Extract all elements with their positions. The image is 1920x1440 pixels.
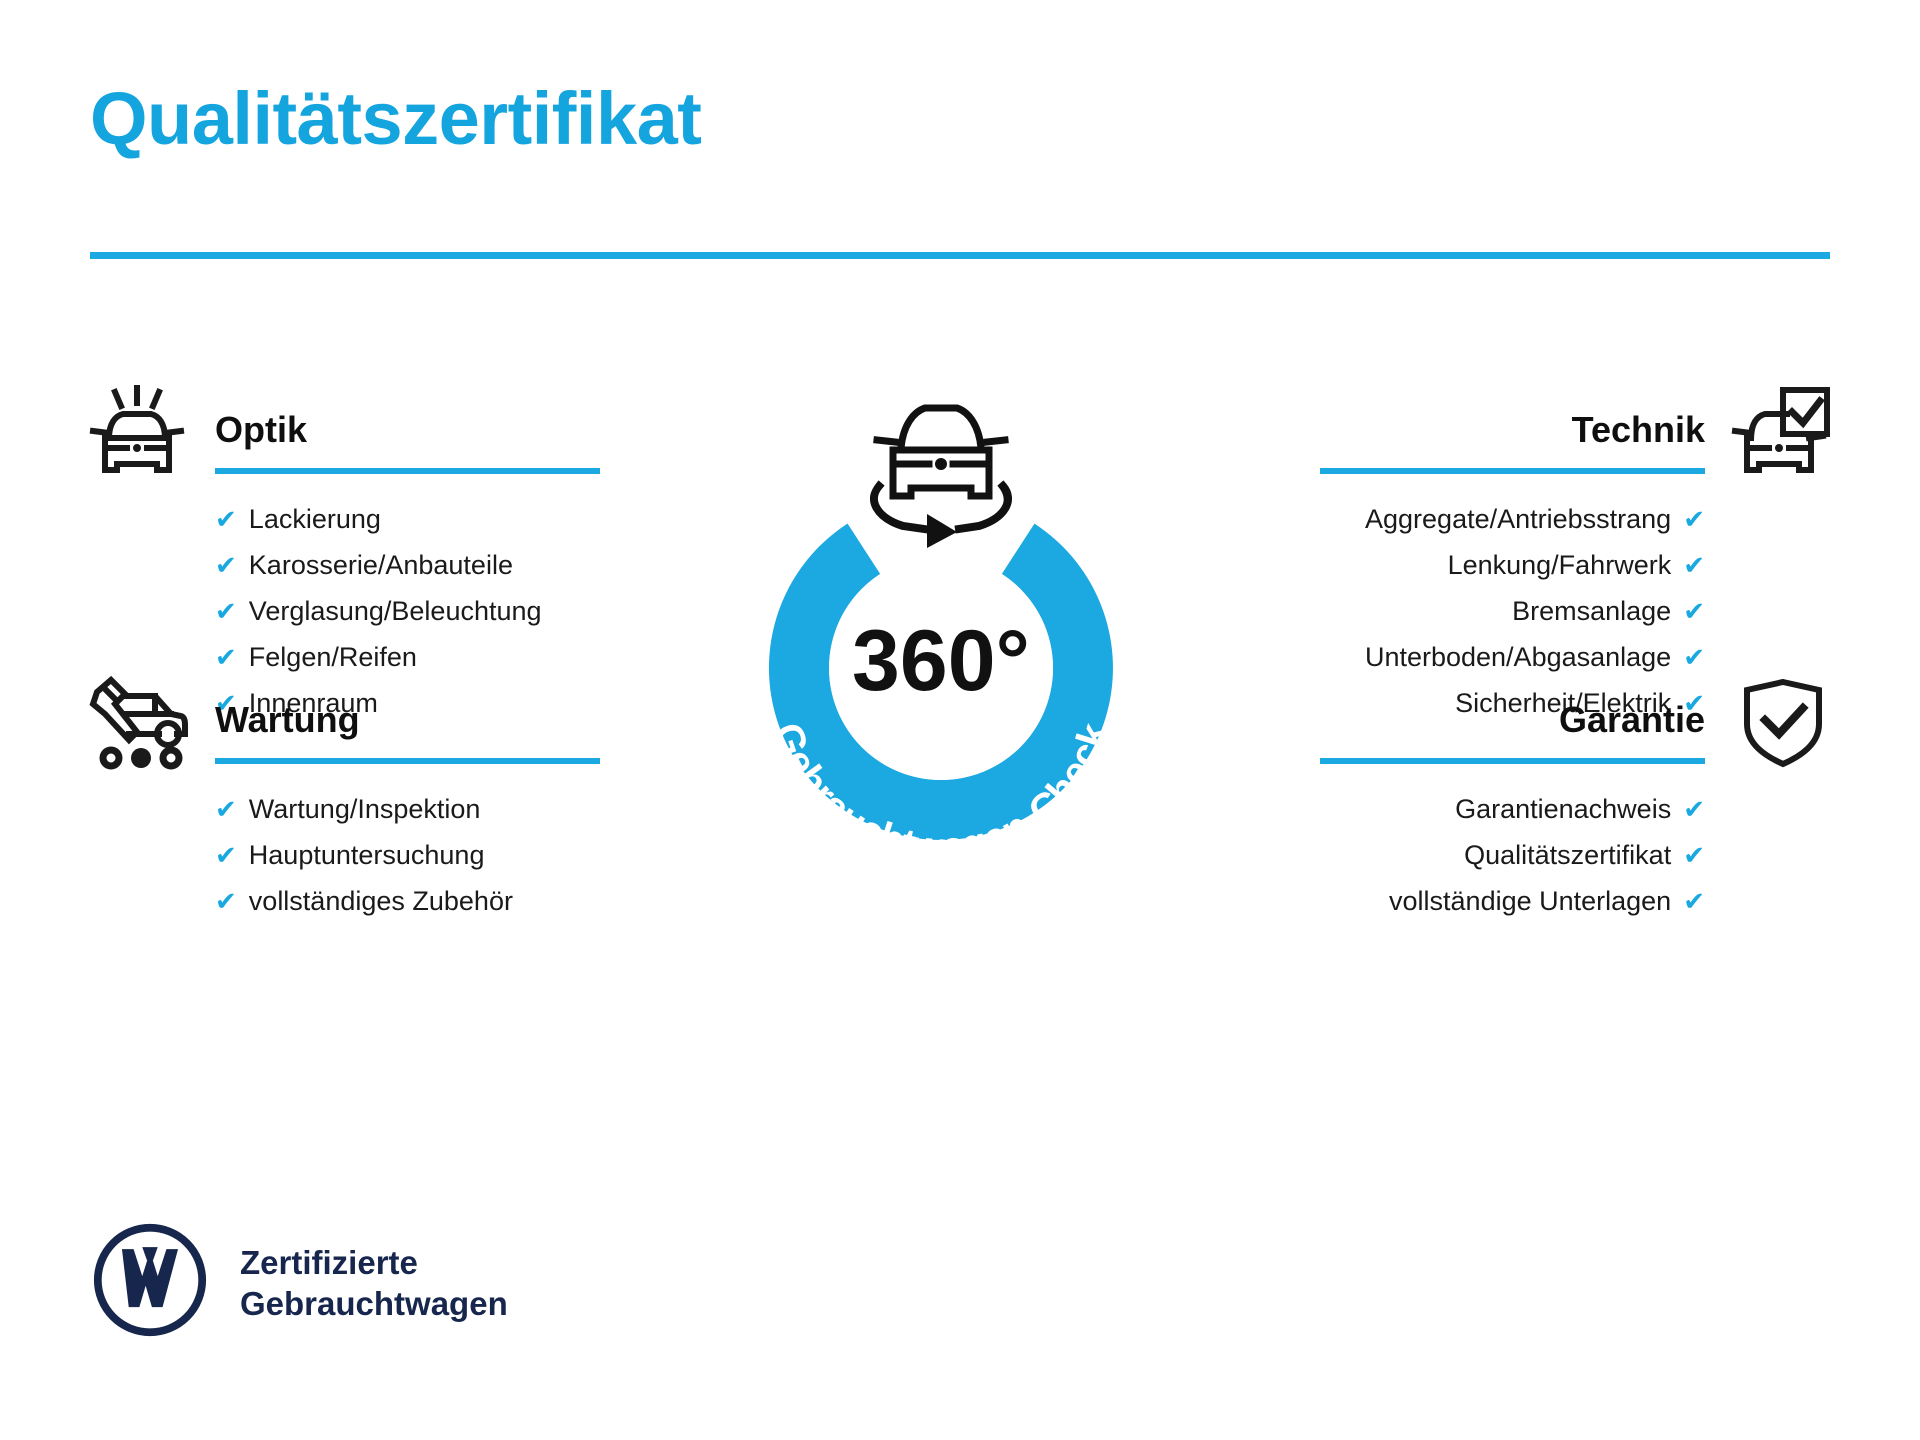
section-wartung: Wartung ✔ Wartung/Inspektion ✔ Hauptunte… — [85, 670, 725, 924]
car-service-wrench-icon — [85, 672, 195, 772]
list-item-label: Bremsanlage — [1512, 588, 1671, 634]
list-item-label: Lenkung/Fahrwerk — [1448, 542, 1672, 588]
list-item: Bremsanlage ✔ — [1195, 588, 1705, 634]
list-item-label: Hauptuntersuchung — [249, 832, 485, 878]
section-wartung-underline — [215, 758, 600, 764]
footer-brand: Zertifizierte Gebrauchtwagen — [92, 1222, 508, 1343]
list-item: vollständige Unterlagen ✔ — [1195, 878, 1705, 924]
check-icon: ✔ — [215, 496, 237, 542]
list-item: Garantienachweis ✔ — [1195, 786, 1705, 832]
check-icon: ✔ — [215, 878, 237, 924]
list-item-label: Aggregate/Antriebsstrang — [1365, 496, 1671, 542]
list-item: ✔ Hauptuntersuchung — [215, 832, 725, 878]
check-icon: ✔ — [1683, 542, 1705, 588]
section-garantie-header: Garantie — [1195, 670, 1835, 770]
badge-360-gebrauchtwagen-check: Gebrauchtwagen-Check 360° — [681, 378, 1201, 878]
check-icon: ✔ — [1683, 878, 1705, 924]
page-title: Qualitätszertifikat — [90, 82, 701, 156]
section-wartung-title: Wartung — [215, 670, 725, 738]
section-garantie: Garantie Garantienachweis ✔ Qualitätszer… — [1195, 670, 1835, 924]
header-divider — [90, 252, 1830, 259]
list-item: ✔ vollständiges Zubehör — [215, 878, 725, 924]
section-optik-title: Optik — [215, 380, 725, 448]
list-item-label: Garantienachweis — [1455, 786, 1671, 832]
section-technik-title: Technik — [1195, 380, 1705, 448]
section-technik-header: Technik — [1195, 380, 1835, 480]
check-icon: ✔ — [215, 832, 237, 878]
list-item-label: Karosserie/Anbauteile — [249, 542, 513, 588]
section-technik-underline — [1320, 468, 1705, 474]
check-icon: ✔ — [1683, 786, 1705, 832]
section-wartung-header: Wartung — [85, 670, 725, 770]
list-item: ✔ Karosserie/Anbauteile — [215, 542, 725, 588]
section-garantie-underline — [1320, 758, 1705, 764]
list-item-label: Verglasung/Beleuchtung — [249, 588, 542, 634]
list-item-label: Wartung/Inspektion — [249, 786, 481, 832]
check-icon: ✔ — [215, 588, 237, 634]
section-optik-underline — [215, 468, 600, 474]
volkswagen-logo — [92, 1222, 208, 1343]
list-item: ✔ Lackierung — [215, 496, 725, 542]
car-front-checkbox-icon — [1725, 382, 1835, 482]
list-item-label: Qualitätszertifikat — [1464, 832, 1671, 878]
footer-brand-text: Zertifizierte Gebrauchtwagen — [240, 1242, 508, 1324]
badge-center-text: 360° — [852, 613, 1030, 709]
list-item: Lenkung/Fahrwerk ✔ — [1195, 542, 1705, 588]
check-icon: ✔ — [1683, 832, 1705, 878]
list-item-label: vollständige Unterlagen — [1389, 878, 1671, 924]
check-icon: ✔ — [1683, 588, 1705, 634]
list-item: ✔ Wartung/Inspektion — [215, 786, 725, 832]
section-wartung-list: ✔ Wartung/Inspektion ✔ Hauptuntersuchung… — [85, 770, 725, 924]
list-item-label: Lackierung — [249, 496, 381, 542]
check-icon: ✔ — [1683, 496, 1705, 542]
section-garantie-list: Garantienachweis ✔ Qualitätszertifikat ✔… — [1195, 770, 1835, 924]
car-front-shine-icon — [85, 382, 195, 482]
check-icon: ✔ — [215, 786, 237, 832]
section-optik-header: Optik — [85, 380, 725, 480]
section-garantie-title: Garantie — [1195, 670, 1705, 738]
check-icon: ✔ — [215, 542, 237, 588]
shield-check-icon — [1725, 672, 1835, 772]
list-item: Qualitätszertifikat ✔ — [1195, 832, 1705, 878]
list-item-label: vollständiges Zubehör — [249, 878, 513, 924]
list-item: Aggregate/Antriebsstrang ✔ — [1195, 496, 1705, 542]
list-item: ✔ Verglasung/Beleuchtung — [215, 588, 725, 634]
